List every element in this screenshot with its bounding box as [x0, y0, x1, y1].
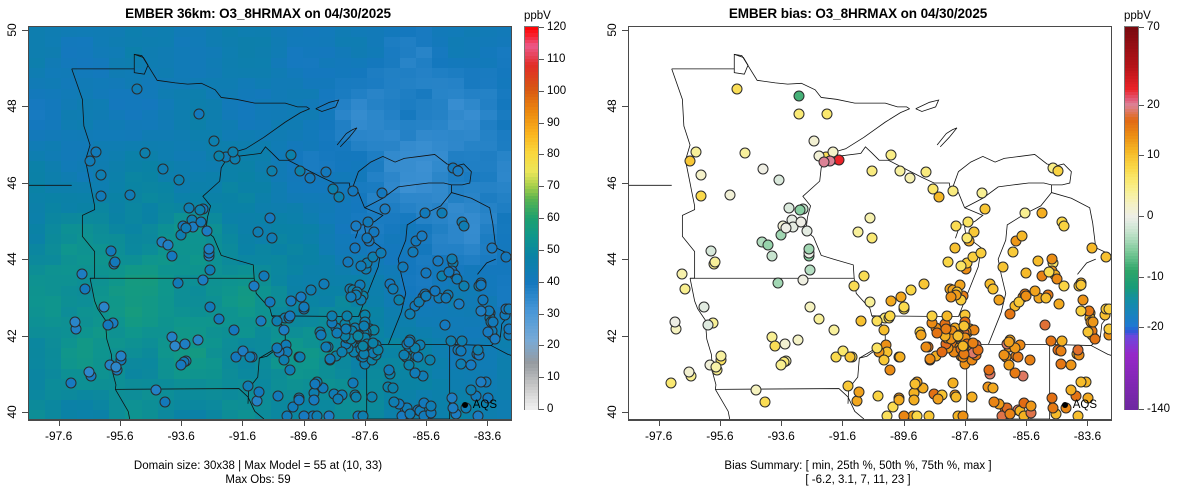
aqs-bias-marker	[751, 384, 762, 395]
aqs-site-marker	[243, 380, 254, 391]
aqs-site-marker	[228, 324, 239, 335]
aqs-site-marker	[346, 291, 357, 302]
colorbar-tick	[539, 218, 544, 219]
aqs-site-marker	[425, 401, 436, 412]
aqs-bias-marker	[881, 411, 892, 420]
aqs-site-marker	[160, 397, 171, 408]
aqs-bias-marker	[854, 387, 865, 398]
aqs-bias-marker	[849, 280, 860, 291]
aqs-site-marker	[384, 364, 395, 375]
aqs-site-marker	[458, 221, 469, 232]
aqs-site-marker	[430, 285, 441, 296]
aqs-bias-marker	[757, 164, 768, 175]
aqs-site-marker	[139, 148, 150, 159]
aqs-bias-marker	[696, 170, 707, 181]
aqs-site-marker	[85, 156, 96, 167]
aqs-site-marker	[198, 275, 209, 286]
aqs-bias-marker	[1003, 360, 1014, 371]
aqs-site-marker	[258, 270, 269, 281]
aqs-site-marker	[475, 305, 486, 316]
panel-bias: EMBER bias: O3_8HRMAX on 04/30/2025 AQS …	[600, 0, 1200, 502]
aqs-site-marker	[194, 109, 205, 120]
colorbar-tick-label: 10	[1147, 149, 1160, 161]
aqs-site-marker	[444, 267, 455, 278]
aqs-bias-marker	[1037, 207, 1048, 218]
aqs-bias-marker	[933, 191, 944, 202]
aqs-site-marker	[175, 359, 186, 370]
aqs-bias-marker	[997, 262, 1008, 273]
colorbar-tick	[1139, 327, 1144, 328]
aqs-bias-marker	[709, 257, 720, 268]
aqs-site-marker	[173, 175, 184, 186]
aqs-site-marker	[195, 217, 206, 228]
x-tick	[720, 420, 721, 426]
aqs-site-marker	[472, 345, 483, 356]
x-tick	[965, 420, 966, 426]
aqs-site-marker	[195, 205, 206, 216]
aqs-bias-marker	[886, 150, 897, 161]
aqs-site-marker	[254, 387, 265, 398]
y-tick	[622, 336, 628, 337]
aqs-bias-marker	[804, 265, 815, 276]
aqs-bias-marker	[763, 240, 774, 251]
colorbar-tick	[1139, 155, 1144, 156]
aqs-bias-marker	[1052, 165, 1063, 176]
aqs-bias-marker	[858, 270, 869, 281]
aqs-site-marker	[70, 317, 81, 328]
aqs-site-marker	[337, 347, 348, 358]
y-tick-label: 42	[5, 329, 19, 342]
aqs-site-marker	[99, 302, 110, 313]
aqs-site-marker	[487, 243, 498, 254]
x-tick-label: -91.6	[229, 429, 256, 443]
aqs-site-marker	[333, 191, 344, 202]
y-tick-label: 44	[5, 253, 19, 266]
aqs-site-marker	[173, 278, 184, 289]
bias-title: EMBER bias: O3_8HRMAX on 04/30/2025	[600, 6, 1116, 21]
aqs-site-marker	[209, 135, 220, 146]
x-tick-label: -93.6	[767, 429, 794, 443]
aqs-site-marker	[151, 384, 162, 395]
colorbar-tick	[1139, 277, 1144, 278]
aqs-bias-marker	[856, 315, 867, 326]
aqs-site-marker	[420, 267, 431, 278]
aqs-site-marker	[404, 409, 415, 420]
aqs-bias-marker	[1076, 377, 1087, 388]
aqs-site-marker	[249, 280, 260, 291]
y-tick	[622, 183, 628, 184]
aqs-bias-marker	[1057, 335, 1068, 346]
aqs-site-marker	[416, 231, 427, 242]
aqs-bias-marker	[1087, 243, 1098, 254]
bias-caption-line2: [ -6.2, 3.1, 7, 11, 23 ]	[600, 473, 1116, 487]
aqs-bias-marker	[1025, 401, 1036, 412]
aqs-site-marker	[204, 265, 215, 276]
aqs-site-marker	[96, 170, 107, 181]
colorbar-segment	[525, 406, 538, 410]
x-tick	[487, 420, 488, 426]
aqs-legend-label: AQS	[473, 399, 497, 411]
aqs-site-marker	[380, 204, 391, 215]
aqs-site-marker	[458, 280, 469, 291]
aqs-bias-marker	[710, 361, 721, 372]
aqs-bias-marker	[885, 311, 896, 322]
aqs-site-marker	[266, 165, 277, 176]
aqs-bias-marker	[943, 257, 954, 268]
x-tick-label: -87.6	[351, 429, 378, 443]
aqs-bias-marker	[1016, 231, 1027, 242]
y-tick-label: 50	[5, 23, 19, 36]
aqs-bias-marker	[773, 175, 784, 186]
aqs-bias-marker	[795, 217, 806, 228]
y-tick-label: 46	[605, 176, 619, 189]
colorbar-tick	[539, 314, 544, 315]
bias-x-axis: -97.6-95.6-93.6-91.6-89.6-87.6-85.6-83.6	[628, 420, 1112, 421]
x-tick	[59, 420, 60, 426]
aqs-bias-marker	[967, 391, 978, 402]
aqs-bias-marker	[1058, 221, 1069, 232]
bias-colorbar-gradient: 7020100-10-20-140	[1124, 26, 1139, 410]
aqs-site-marker	[299, 411, 310, 420]
aqs-bias-marker	[1005, 309, 1016, 320]
aqs-site-marker	[285, 311, 296, 322]
x-tick-label: -95.6	[106, 429, 133, 443]
model-colorbar-gradient: 1201101009080706050403020100	[524, 26, 539, 410]
aqs-site-marker	[285, 295, 296, 306]
aqs-site-marker	[272, 343, 283, 354]
aqs-bias-marker	[948, 377, 959, 388]
aqs-bias-marker	[818, 156, 829, 167]
aqs-site-marker	[318, 278, 329, 289]
aqs-site-marker	[358, 411, 369, 420]
aqs-bias-marker	[1033, 256, 1044, 267]
aqs-site-marker	[95, 190, 106, 201]
model-map-frame: AQS	[28, 26, 512, 420]
aqs-bias-marker	[1030, 285, 1041, 296]
aqs-site-marker	[326, 310, 337, 321]
colorbar-tick	[539, 377, 544, 378]
aqs-bias-marker	[804, 244, 815, 255]
aqs-site-marker	[389, 397, 400, 408]
aqs-site-marker	[342, 311, 353, 322]
aqs-bias-marker	[908, 395, 919, 406]
aqs-bias-marker	[1104, 304, 1112, 315]
aqs-site-marker	[350, 391, 361, 402]
aqs-site-marker	[253, 226, 264, 237]
aqs-site-marker	[324, 411, 335, 420]
aqs-bias-marker	[968, 338, 979, 349]
y-tick-label: 40	[605, 406, 619, 419]
model-x-axis: -97.6-95.6-93.6-91.6-89.6-87.6-85.6-83.6	[28, 420, 512, 421]
aqs-site-marker	[440, 293, 451, 304]
aqs-bias-marker	[739, 148, 750, 159]
aqs-bias-marker	[987, 382, 998, 393]
aqs-bias-marker	[918, 278, 929, 289]
aqs-bias-marker	[895, 351, 906, 362]
aqs-bias-marker	[905, 285, 916, 296]
colorbar-tick	[539, 27, 544, 28]
aqs-site-marker	[447, 254, 458, 265]
colorbar-tick-label: 0	[547, 403, 553, 415]
aqs-site-marker	[404, 337, 415, 348]
aqs-site-marker	[476, 377, 487, 388]
aqs-site-marker	[377, 188, 388, 199]
aqs-site-marker	[125, 190, 136, 201]
aqs-bias-marker	[670, 317, 681, 328]
aqs-site-marker	[405, 309, 416, 320]
aqs-bias-marker	[683, 367, 694, 378]
y-tick	[22, 183, 28, 184]
aqs-bias-marker	[866, 165, 877, 176]
aqs-bias-marker	[924, 353, 935, 364]
colorbar-tick-label: 0	[1147, 210, 1153, 222]
aqs-bias-marker	[1047, 403, 1058, 414]
aqs-site-marker	[214, 151, 225, 162]
aqs-bias-marker	[1056, 346, 1067, 357]
y-tick	[22, 30, 28, 31]
colorbar-tick	[539, 282, 544, 283]
y-tick	[622, 412, 628, 413]
aqs-site-marker	[273, 391, 284, 402]
aqs-bias-marker	[1004, 337, 1015, 348]
model-caption-line2: Max Obs: 59	[0, 473, 516, 487]
aqs-bias-marker	[821, 109, 832, 120]
colorbar-tick	[539, 409, 544, 410]
y-tick	[22, 336, 28, 337]
colorbar-tick-label: -10	[1147, 271, 1164, 283]
aqs-site-marker	[349, 242, 360, 253]
aqs-dot-icon	[1062, 402, 1068, 408]
colorbar-tick-label: 20	[547, 339, 560, 351]
aqs-site-marker	[333, 394, 344, 405]
x-tick	[426, 420, 427, 426]
aqs-bias-marker	[879, 354, 890, 365]
aqs-site-marker	[77, 268, 88, 279]
aqs-bias-marker	[977, 188, 988, 199]
aqs-bias-marker	[1008, 247, 1019, 258]
colorbar-tick	[539, 250, 544, 251]
aqs-bias-marker	[1078, 294, 1089, 305]
figure-canvas: EMBER 36km: O3_8HRMAX on 04/30/2025 AQS …	[0, 0, 1200, 502]
aqs-site-marker	[181, 222, 192, 233]
aqs-site-marker	[368, 338, 379, 349]
aqs-bias-marker	[865, 297, 876, 308]
aqs-bias-marker	[878, 325, 889, 336]
aqs-site-marker	[131, 83, 142, 94]
aqs-site-marker	[320, 167, 331, 178]
aqs-dot-icon	[462, 402, 468, 408]
aqs-bias-marker	[705, 245, 716, 256]
x-tick	[659, 420, 660, 426]
x-tick	[365, 420, 366, 426]
y-tick	[22, 106, 28, 107]
y-tick-label: 48	[5, 100, 19, 113]
aqs-legend: AQS	[462, 399, 497, 411]
aqs-bias-marker	[1019, 208, 1030, 219]
aqs-legend-bias: AQS	[1062, 399, 1097, 411]
aqs-bias-marker	[769, 341, 780, 352]
aqs-site-marker	[456, 346, 467, 357]
aqs-site-marker	[169, 341, 180, 352]
aqs-bias-marker	[715, 351, 726, 362]
model-y-axis: 404244464850	[28, 26, 29, 420]
aqs-bias-marker	[895, 165, 906, 176]
aqs-bias-marker	[950, 220, 961, 231]
aqs-bias-marker	[958, 411, 969, 420]
aqs-bias-marker	[795, 205, 806, 216]
aqs-bias-marker	[725, 190, 736, 201]
aqs-bias-marker	[779, 338, 790, 349]
aqs-site-marker	[437, 207, 448, 218]
aqs-bias-marker	[793, 334, 804, 345]
aqs-bias-marker	[989, 397, 1000, 408]
aqs-site-marker	[103, 320, 114, 331]
aqs-site-marker	[419, 208, 430, 219]
aqs-bias-marker	[884, 365, 895, 376]
aqs-site-marker	[284, 365, 295, 376]
colorbar-tick-label: 60	[547, 212, 560, 224]
aqs-site-marker	[488, 317, 499, 328]
aqs-bias-marker	[828, 324, 839, 335]
x-tick-label: -85.6	[413, 429, 440, 443]
page-title: EMBER 36km: O3_8HRMAX on 04/30/2025	[0, 6, 516, 21]
colorbar-tick	[539, 59, 544, 60]
aqs-site-marker	[347, 185, 358, 196]
aqs-site-marker	[343, 257, 354, 268]
aqs-bias-marker	[867, 233, 878, 244]
x-tick	[1087, 420, 1088, 426]
aqs-site-marker	[363, 216, 374, 227]
x-tick-label: -89.6	[290, 429, 317, 443]
aqs-site-marker	[375, 247, 386, 258]
aqs-bias-marker	[924, 411, 935, 420]
colorbar-tick-label: 100	[547, 85, 566, 97]
aqs-bias-marker	[898, 301, 909, 312]
aqs-site-marker	[453, 299, 464, 310]
aqs-observation-points	[29, 27, 511, 419]
aqs-site-marker	[475, 280, 486, 291]
aqs-site-marker	[324, 353, 335, 364]
bias-map-frame: AQS	[628, 26, 1112, 420]
aqs-site-marker	[264, 212, 275, 223]
aqs-site-marker	[293, 395, 304, 406]
aqs-bias-marker	[1053, 299, 1064, 310]
aqs-site-marker	[472, 411, 483, 420]
colorbar-tick	[539, 186, 544, 187]
aqs-site-marker	[295, 351, 306, 362]
aqs-bias-marker	[731, 83, 742, 94]
y-tick-label: 50	[605, 23, 619, 36]
aqs-site-marker	[355, 260, 366, 271]
aqs-site-marker	[66, 377, 77, 388]
x-tick-label: -91.6	[829, 429, 856, 443]
colorbar-tick-label: -140	[1147, 403, 1170, 415]
aqs-site-marker	[316, 329, 327, 340]
x-tick-label: -83.6	[1074, 429, 1101, 443]
aqs-bias-marker	[947, 185, 958, 196]
colorbar-tick-label: 70	[547, 180, 560, 192]
aqs-bias-marker	[775, 359, 786, 370]
aqs-site-marker	[157, 164, 168, 175]
aqs-site-marker	[403, 360, 414, 371]
aqs-bias-marker	[773, 278, 784, 289]
aqs-site-marker	[457, 335, 468, 346]
x-tick-label: -83.6	[474, 429, 501, 443]
colorbar-tick-label: 40	[547, 276, 560, 288]
aqs-bias-marker	[946, 291, 957, 302]
aqs-site-marker	[308, 395, 319, 406]
aqs-site-marker	[504, 324, 512, 335]
aqs-bias-marker	[760, 397, 771, 408]
aqs-bias-marker	[809, 135, 820, 146]
aqs-site-marker	[321, 341, 332, 352]
aqs-site-marker	[272, 316, 283, 327]
aqs-bias-marker	[794, 109, 805, 120]
aqs-bias-marker	[980, 204, 991, 215]
y-tick	[622, 259, 628, 260]
aqs-site-marker	[267, 233, 278, 244]
aqs-site-marker	[109, 257, 120, 268]
colorbar-tick-label: 90	[547, 117, 560, 129]
x-tick	[304, 420, 305, 426]
aqs-site-marker	[286, 150, 297, 161]
y-tick-label: 46	[5, 176, 19, 189]
x-tick	[120, 420, 121, 426]
aqs-bias-marker	[813, 314, 824, 325]
aqs-bias-marker	[933, 394, 944, 405]
aqs-site-marker	[279, 354, 290, 365]
aqs-bias-marker	[1089, 333, 1100, 344]
aqs-site-marker	[79, 284, 90, 295]
aqs-bias-marker	[872, 316, 883, 327]
y-tick	[622, 30, 628, 31]
aqs-bias-marker	[975, 247, 986, 258]
aqs-site-marker	[440, 319, 451, 330]
colorbar-tick	[539, 345, 544, 346]
colorbar-segment	[1125, 406, 1138, 409]
aqs-bias-marker	[1075, 280, 1086, 291]
aqs-site-marker	[433, 256, 444, 267]
aqs-bias-marker	[695, 190, 706, 201]
aqs-bias-marker	[1088, 317, 1099, 328]
aqs-site-marker	[213, 314, 224, 325]
x-tick	[781, 420, 782, 426]
bias-caption-line1: Bias Summary: [ min, 25th %, 50th %, 75t…	[600, 459, 1116, 473]
aqs-site-marker	[397, 262, 408, 273]
colorbar-tick	[539, 123, 544, 124]
aqs-site-marker	[452, 165, 463, 176]
aqs-site-marker	[278, 325, 289, 336]
aqs-bias-marker	[798, 275, 809, 286]
aqs-site-marker	[295, 165, 306, 176]
aqs-bias-marker	[872, 343, 883, 354]
aqs-bias-marker	[899, 411, 910, 420]
aqs-bias-marker	[1101, 251, 1112, 262]
aqs-bias-marker	[783, 202, 794, 213]
aqs-bias-marker	[942, 311, 953, 322]
colorbar-tick-label: 70	[1147, 21, 1160, 33]
aqs-site-marker	[367, 391, 378, 402]
aqs-bias-marker	[1044, 267, 1055, 278]
x-tick-label: -97.6	[645, 429, 672, 443]
y-tick-label: 44	[605, 253, 619, 266]
aqs-site-marker	[350, 220, 361, 231]
aqs-legend-label: AQS	[1073, 399, 1097, 411]
colorbar-tick-label: 10	[547, 371, 560, 383]
aqs-site-marker	[281, 411, 292, 420]
aqs-bias-marker	[993, 294, 1004, 305]
x-tick-label: -95.6	[706, 429, 733, 443]
